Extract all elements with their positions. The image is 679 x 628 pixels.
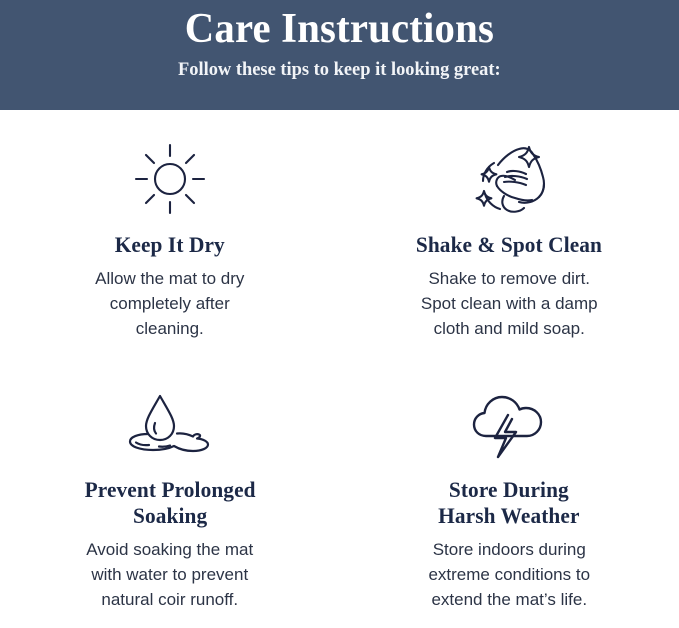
page-subtitle: Follow these tips to keep it looking gre… (178, 59, 501, 82)
sun-icon (132, 136, 208, 222)
tip-card-prevent-prolonged-soaking: Prevent Prolonged Soaking Avoid soaking … (0, 369, 340, 628)
tip-description: Shake to remove dirt. Spot clean with a … (421, 267, 598, 341)
tip-title: Prevent Prolonged Soaking (84, 477, 255, 529)
tip-description: Allow the mat to dry completely after cl… (95, 267, 244, 341)
water-droplet-puddle-icon (122, 383, 218, 469)
header-banner: Care Instructions Follow these tips to k… (0, 0, 679, 110)
tip-title: Store During Harsh Weather (439, 477, 580, 529)
care-instructions-page: Care Instructions Follow these tips to k… (0, 0, 679, 628)
tip-card-keep-it-dry: Keep It Dry Allow the mat to dry complet… (0, 110, 340, 369)
tip-description: Avoid soaking the mat with water to prev… (86, 538, 253, 612)
tip-card-shake-and-spot-clean: Shake & Spot Clean Shake to remove dirt.… (340, 110, 679, 369)
care-tips-grid: Keep It Dry Allow the mat to dry complet… (0, 110, 679, 628)
page-title: Care Instructions (185, 6, 494, 53)
tip-card-store-during-harsh-weather: Store During Harsh Weather Store indoors… (340, 369, 679, 628)
tip-title: Keep It Dry (115, 232, 225, 258)
tip-description: Store indoors during extreme conditions … (428, 538, 590, 612)
tip-title: Shake & Spot Clean (416, 232, 602, 258)
storm-cloud-lightning-icon (468, 383, 550, 469)
washing-hands-sparkle-icon (463, 136, 555, 222)
